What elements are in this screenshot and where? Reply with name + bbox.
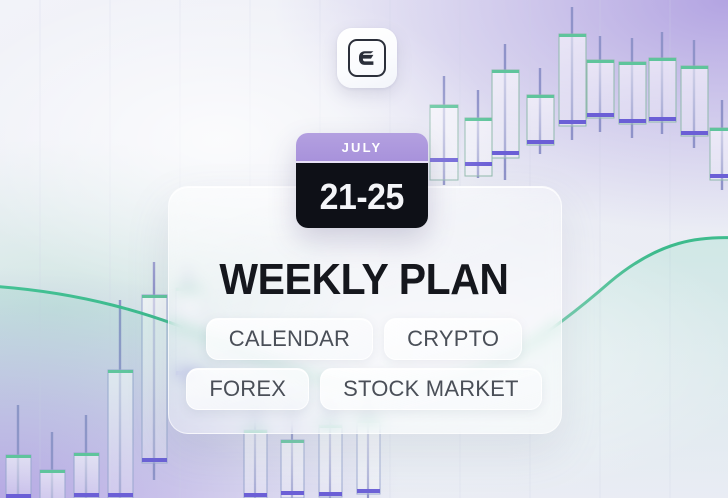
banner-canvas: JULY 21-25 WEEKLY PLAN CALENDAR CRYPTO F… (0, 0, 728, 498)
brand-logo-badge[interactable] (337, 28, 397, 88)
calendar-day-range: 21-25 (320, 176, 404, 218)
tag-stock-market[interactable]: STOCK MARKET (320, 368, 542, 410)
tag-row-2: FOREX STOCK MARKET (0, 368, 728, 410)
tag-row-1: CALENDAR CRYPTO (0, 318, 728, 360)
tag-calendar[interactable]: CALENDAR (206, 318, 373, 360)
c-monogram-icon (348, 39, 386, 77)
tag-forex[interactable]: FOREX (186, 368, 309, 410)
calendar-card: JULY 21-25 (296, 133, 428, 228)
calendar-month-label: JULY (342, 140, 383, 155)
calendar-body: 21-25 (296, 163, 428, 228)
calendar-header: JULY (296, 133, 428, 163)
tag-crypto[interactable]: CRYPTO (384, 318, 522, 360)
tag-group: CALENDAR CRYPTO FOREX STOCK MARKET (0, 318, 728, 418)
page-title: WEEKLY PLAN (25, 255, 702, 305)
